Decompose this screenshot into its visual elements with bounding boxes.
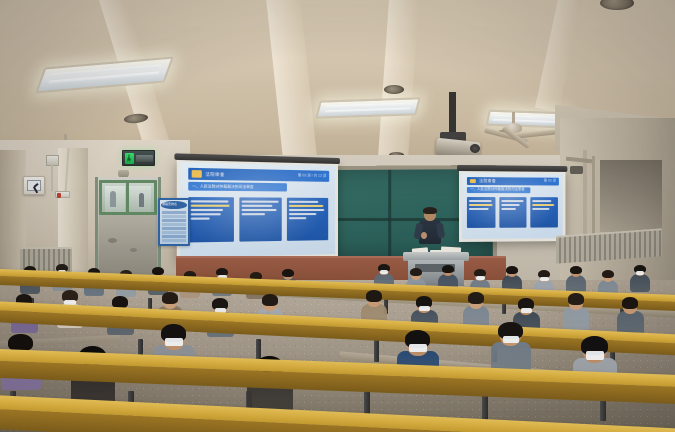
person-hair — [602, 270, 614, 278]
face-mask — [503, 336, 520, 344]
face-mask — [540, 277, 548, 281]
person-hair — [410, 268, 422, 276]
audience-member — [630, 263, 650, 291]
person-torso — [630, 274, 649, 291]
person-hair — [568, 293, 584, 304]
person-hair — [8, 334, 32, 351]
face-mask — [586, 351, 604, 359]
person-hair — [262, 294, 278, 305]
face-mask — [521, 308, 533, 313]
face-mask — [165, 338, 183, 346]
person-hair — [442, 265, 454, 273]
person-hair — [282, 269, 294, 277]
person-hair — [622, 297, 639, 309]
audience-area — [0, 0, 675, 432]
face-mask — [409, 344, 427, 352]
person-hair — [162, 292, 178, 303]
person-hair — [468, 292, 484, 303]
audience-member — [566, 264, 586, 292]
audience-member — [616, 295, 645, 335]
face-mask — [380, 270, 388, 274]
face-mask — [419, 306, 431, 311]
person-hair — [506, 266, 518, 274]
face-mask — [636, 271, 644, 275]
face-mask — [476, 276, 484, 280]
person-hair — [570, 266, 582, 274]
person-hair — [366, 290, 382, 301]
audience-member — [562, 291, 590, 330]
desk-leg — [374, 339, 379, 362]
person-torso — [563, 307, 590, 331]
lecture-hall-photo: 法院审查 第 03 讲 / 共 12 讲 一、人民法院对仲裁裁决的司法审查 — [0, 0, 675, 432]
